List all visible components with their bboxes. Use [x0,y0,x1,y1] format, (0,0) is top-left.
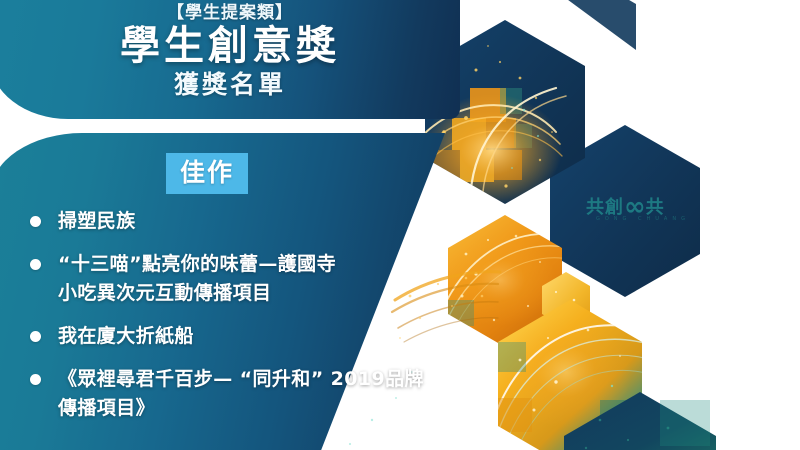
award-title: 我在廈大折紙船 [58,322,194,351]
award-title: “十三喵”點亮你的味蕾—護國寺 小吃異次元互動傳播項目 [58,250,336,308]
hexagon-gold-small [542,272,590,328]
list-item: 我在廈大折紙船 [30,322,510,351]
header-kicker: 【學生提案類】 [167,2,293,24]
watermark-subtext: GONG CHUANG [596,216,690,222]
award-title: 掃塑民族 [58,207,136,236]
hexagon-dark-bottom [564,392,716,450]
list-item: 掃塑民族 [30,207,510,236]
list-item: “十三喵”點亮你的味蕾—護國寺 小吃異次元互動傳播項目 [30,250,510,308]
hexagon-dark-top-edge [560,0,636,50]
watermark-text-right: 共 [646,197,665,218]
status-badge: 佳作 [166,153,248,194]
bullet-icon [30,259,41,270]
list-item: 《眾裡尋君千百步— “同升和” 2019品牌 傳播項目》 [30,365,510,423]
bullet-icon [30,331,41,342]
slide-canvas: 【學生提案類】 學生創意獎 獲獎名單 佳作 掃塑民族 “十三喵”點亮你的味蕾—護… [0,0,800,450]
header-text-group: 【學生提案類】 學生創意獎 獲獎名單 [0,0,460,119]
watermark-text-left: 共創 [586,197,624,218]
bullet-icon [30,374,41,385]
brand-watermark: 共創∞共 [586,197,665,218]
award-list: 掃塑民族 “十三喵”點亮你的味蕾—護國寺 小吃異次元互動傳播項目 我在廈大折紙船… [30,207,510,437]
award-title: 《眾裡尋君千百步— “同升和” 2019品牌 傳播項目》 [58,365,424,423]
page-title: 學生創意獎 [120,22,340,70]
bullet-icon [30,216,41,227]
page-subtitle: 獲獎名單 [174,69,286,101]
hexagon-gold-lower [494,300,656,450]
